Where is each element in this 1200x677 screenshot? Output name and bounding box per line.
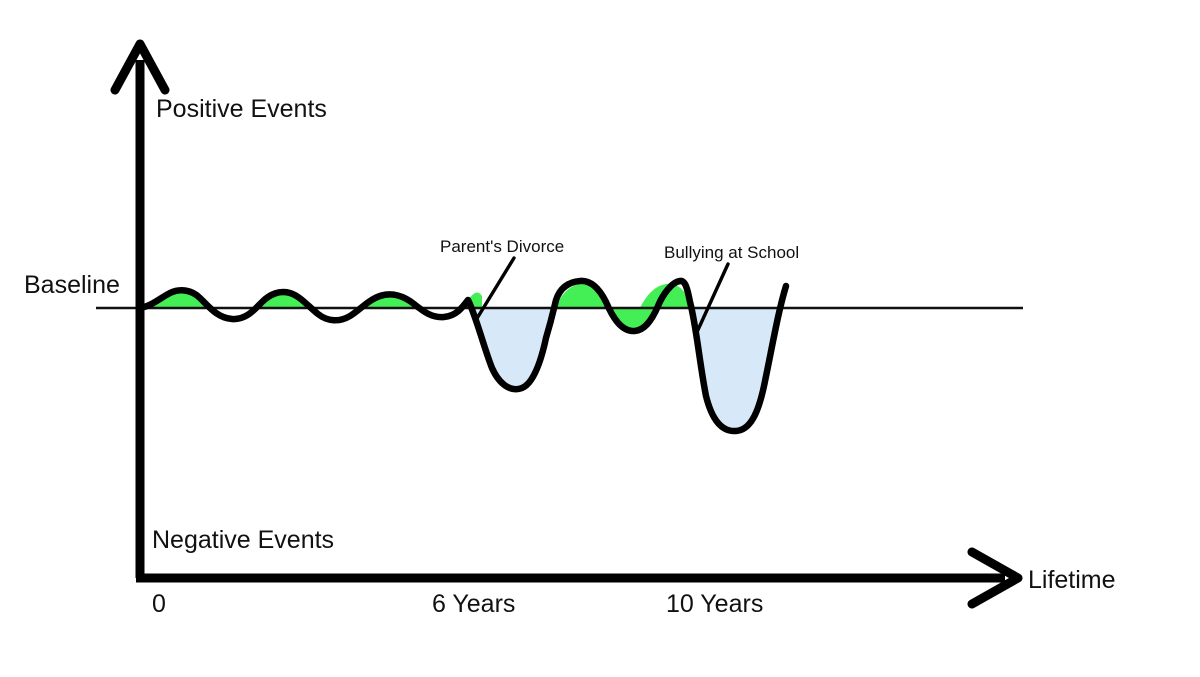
annotation-label-parents-divorce: Parent's Divorce: [440, 237, 564, 256]
x-axis-title-lifetime: Lifetime: [1028, 566, 1116, 594]
annotation-label-bullying-at-school: Bullying at School: [664, 243, 799, 262]
life-events-chart: Positive Events Negative Events Baseline…: [0, 0, 1200, 677]
x-tick-label-10-years: 10 Years: [666, 590, 763, 618]
y-axis-negative-label: Negative Events: [152, 526, 334, 554]
x-tick-label-0: 0: [152, 590, 166, 618]
y-axis-positive-label: Positive Events: [156, 95, 327, 123]
figure-canvas: Positive Events Negative Events Baseline…: [0, 0, 1200, 677]
baseline-label: Baseline: [24, 271, 120, 299]
life-events-curve: [140, 281, 786, 431]
x-tick-label-6-years: 6 Years: [432, 590, 515, 618]
